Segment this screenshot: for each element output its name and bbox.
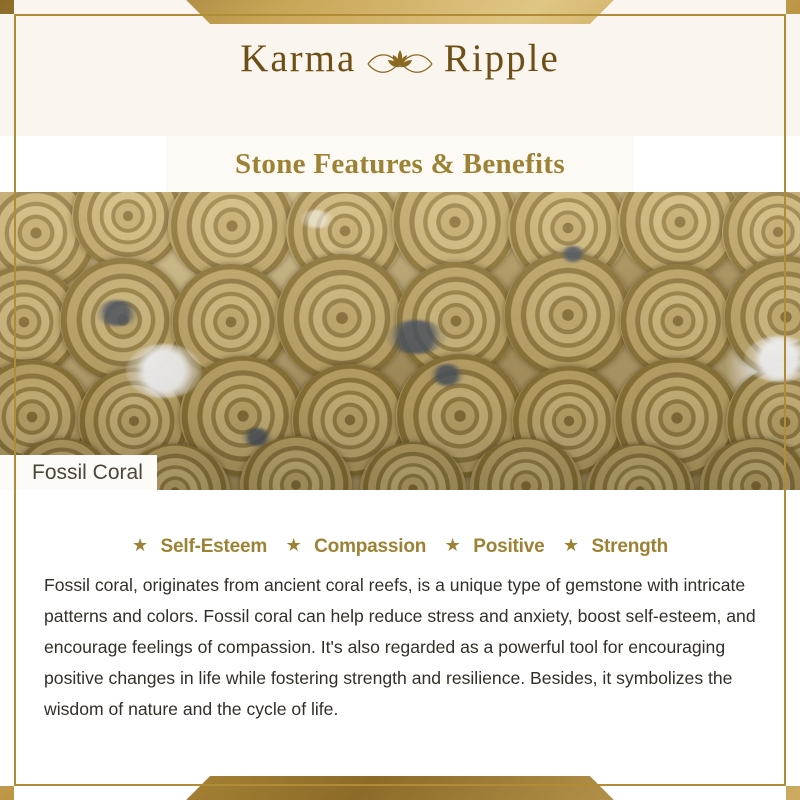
- description-section: ★ Self-Esteem ★ Compassion ★ Positive ★ …: [0, 490, 800, 800]
- coral-ring-texture: [0, 192, 800, 490]
- fossil-coral-stone-photo: [0, 192, 800, 490]
- stone-description-text: Fossil coral, originates from ancient co…: [44, 570, 758, 725]
- star-icon: ★: [445, 535, 461, 556]
- frame-line-bottom: [14, 784, 786, 786]
- star-icon: ★: [286, 535, 302, 556]
- frame-line-left: [14, 14, 16, 786]
- star-icon: ★: [132, 535, 148, 556]
- benefit-keyword-strength: Strength: [592, 536, 669, 558]
- brand-header-band: Karma: [0, 0, 800, 136]
- stone-name: Fossil Coral: [32, 461, 143, 485]
- frame-line-right: [784, 14, 786, 786]
- benefit-keyword-self-esteem: Self-Esteem: [161, 536, 268, 558]
- benefit-keyword-compassion: Compassion: [314, 536, 426, 558]
- brand-word-right: Ripple: [444, 37, 560, 80]
- poster-root: Karma: [0, 0, 800, 800]
- benefit-keyword-list: ★ Self-Esteem ★ Compassion ★ Positive ★ …: [0, 536, 800, 558]
- star-icon: ★: [563, 535, 579, 556]
- frame-line-top: [14, 14, 786, 16]
- benefit-keyword-positive: Positive: [473, 536, 544, 558]
- lotus-flower-icon: [367, 45, 433, 79]
- page-title: Stone Features & Benefits: [235, 148, 565, 181]
- brand-logo: Karma: [0, 36, 800, 81]
- brand-word-left: Karma: [240, 37, 356, 80]
- stone-name-plate: Fossil Coral: [0, 455, 157, 490]
- poster-card: Karma: [0, 0, 800, 800]
- section-title-band: Stone Features & Benefits: [166, 136, 634, 192]
